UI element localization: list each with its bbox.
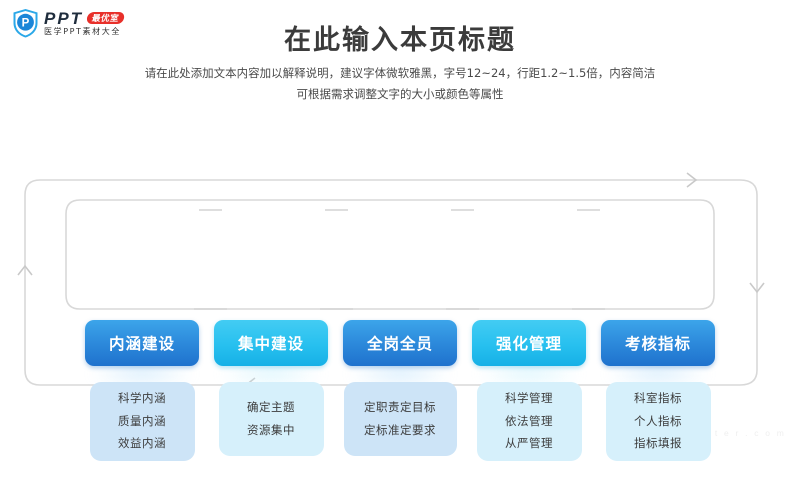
diagram-column-5: 考核指标 科室指标 个人指标 指标填报 — [601, 320, 715, 495]
stage-card-2[interactable]: 确定主题 资源集中 — [219, 382, 324, 456]
stage-card-3[interactable]: 定职责定目标 定标准定要求 — [344, 382, 457, 456]
card-item: 效益内涵 — [118, 438, 166, 450]
stage-pill-1[interactable]: 内涵建设 — [85, 320, 199, 366]
stage-pill-5[interactable]: 考核指标 — [601, 320, 715, 366]
diagram-column-2: 集中建设 确定主题 资源集中 — [214, 320, 328, 495]
card-item: 定职责定目标 — [364, 402, 436, 414]
diagram-column-1: 内涵建设 科学内涵 质量内涵 效益内涵 — [85, 320, 199, 495]
page-subtitle-line-1: 请在此处添加文本内容加以解释说明，建议字体微软雅黑，字号12~24，行距1.2~… — [0, 63, 800, 84]
card-item: 质量内涵 — [118, 416, 166, 428]
stage-card-5[interactable]: 科室指标 个人指标 指标填报 — [606, 382, 711, 461]
card-item: 指标填报 — [634, 438, 682, 450]
card-item: 个人指标 — [634, 416, 682, 428]
page-title: 在此输入本页标题 — [0, 18, 800, 57]
stage-pill-4[interactable]: 强化管理 — [472, 320, 586, 366]
card-item: 科学管理 — [505, 393, 553, 405]
card-item: 资源集中 — [247, 425, 295, 437]
card-item: 从严管理 — [505, 438, 553, 450]
page-subtitle-line-2: 可根据需求调整文字的大小或颜色等属性 — [0, 84, 800, 105]
stage-card-4[interactable]: 科学管理 依法管理 从严管理 — [477, 382, 582, 461]
diagram-columns: 内涵建设 科学内涵 质量内涵 效益内涵 集中建设 确定主题 资源集中 全岗全员 … — [85, 320, 715, 495]
stage-pill-2[interactable]: 集中建设 — [214, 320, 328, 366]
process-diagram: 内涵建设 科学内涵 质量内涵 效益内涵 集中建设 确定主题 资源集中 全岗全员 … — [0, 135, 800, 425]
card-item: 确定主题 — [247, 402, 295, 414]
stage-pill-3[interactable]: 全岗全员 — [343, 320, 457, 366]
page-subtitle: 请在此处添加文本内容加以解释说明，建议字体微软雅黑，字号12~24，行距1.2~… — [0, 63, 800, 106]
card-item: 依法管理 — [505, 416, 553, 428]
card-item: 定标准定要求 — [364, 425, 436, 437]
stage-card-1[interactable]: 科学内涵 质量内涵 效益内涵 — [90, 382, 195, 461]
diagram-column-3: 全岗全员 定职责定目标 定标准定要求 — [343, 320, 457, 495]
diagram-column-4: 强化管理 科学管理 依法管理 从严管理 — [472, 320, 586, 495]
card-item: 科学内涵 — [118, 393, 166, 405]
card-item: 科室指标 — [634, 393, 682, 405]
